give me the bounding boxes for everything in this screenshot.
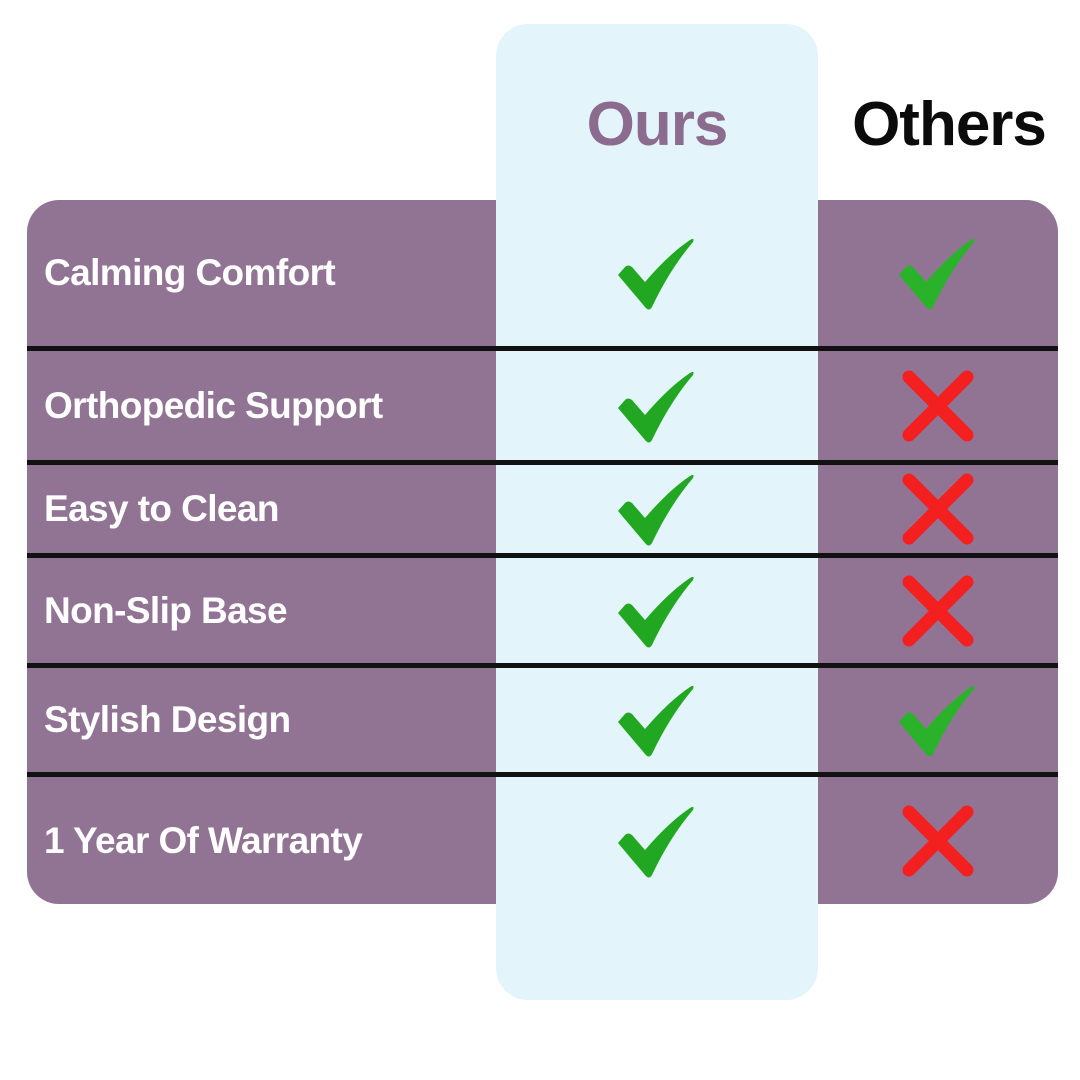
check-icon — [614, 234, 700, 312]
table-row: 1 Year Of Warranty — [0, 777, 1080, 904]
table-row: Non-Slip Base — [0, 558, 1080, 663]
column-header-others: Others — [818, 80, 1080, 170]
row-feature-label: 1 Year Of Warranty — [44, 777, 474, 904]
cell-others — [818, 558, 1058, 663]
cell-ours — [496, 200, 818, 346]
row-divider — [27, 772, 1058, 777]
cell-ours — [496, 777, 818, 904]
check-icon — [614, 802, 700, 880]
row-feature-label: Calming Comfort — [44, 200, 474, 346]
cell-others — [818, 777, 1058, 904]
check-icon — [895, 681, 981, 759]
cell-ours — [496, 668, 818, 772]
cell-ours — [496, 351, 818, 460]
cell-others — [818, 465, 1058, 553]
check-icon — [614, 367, 700, 445]
check-icon — [614, 470, 700, 548]
table-row: Calming Comfort — [0, 200, 1080, 346]
row-feature-label: Non-Slip Base — [44, 558, 474, 663]
cell-others — [818, 668, 1058, 772]
cross-icon — [899, 572, 977, 650]
cross-icon — [899, 470, 977, 548]
row-feature-label: Stylish Design — [44, 668, 474, 772]
row-divider — [27, 346, 1058, 351]
cell-others — [818, 200, 1058, 346]
check-icon — [614, 572, 700, 650]
check-icon — [614, 681, 700, 759]
comparison-table-graphic: Ours Others Calming ComfortOrthopedic Su… — [0, 0, 1080, 1080]
cell-ours — [496, 558, 818, 663]
row-divider — [27, 663, 1058, 668]
table-row: Orthopedic Support — [0, 351, 1080, 460]
cross-icon — [899, 367, 977, 445]
row-feature-label: Easy to Clean — [44, 465, 474, 553]
row-feature-label: Orthopedic Support — [44, 351, 474, 460]
row-divider — [27, 460, 1058, 465]
check-icon — [895, 234, 981, 312]
cell-ours — [496, 465, 818, 553]
cross-icon — [899, 802, 977, 880]
cell-others — [818, 351, 1058, 460]
row-divider — [27, 553, 1058, 558]
table-row: Easy to Clean — [0, 465, 1080, 553]
table-row: Stylish Design — [0, 668, 1080, 772]
